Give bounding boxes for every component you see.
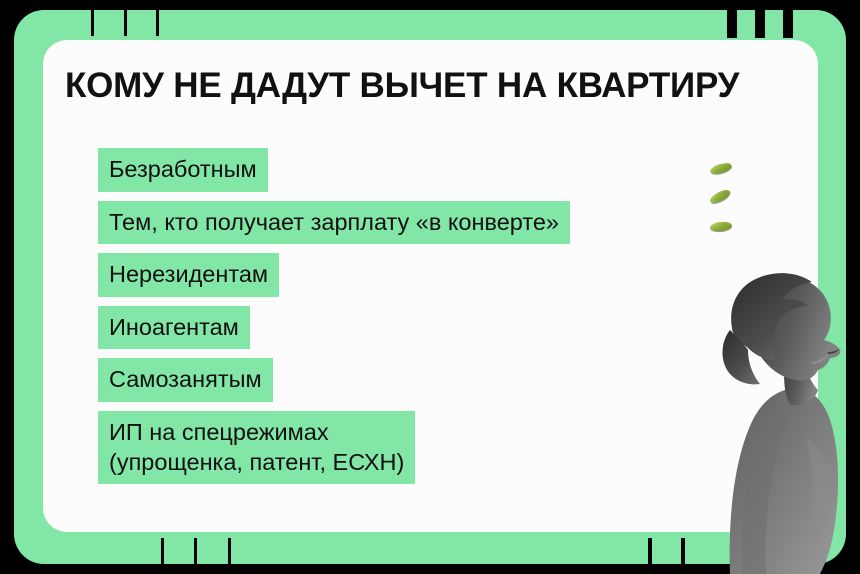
coin-icon <box>710 221 733 232</box>
frame-notch-top-6 <box>783 10 793 38</box>
frame-notch-bottom-2 <box>194 538 197 564</box>
list-item: Иноагентам <box>98 306 738 350</box>
infographic-card: КОМУ НЕ ДАДУТ ВЫЧЕТ НА КВАРТИРУ Безработ… <box>0 0 860 574</box>
coin-icon <box>709 161 733 176</box>
frame-notch-top-3 <box>156 10 159 36</box>
list-item: ИП на спецрежимах (упрощенка, патент, ЕС… <box>98 411 738 484</box>
frame-notch-top-4 <box>727 10 737 38</box>
list-item: Тем, кто получает зарплату «в конверте» <box>98 201 738 245</box>
list-item-label: Безработным <box>98 148 268 192</box>
list-item-label: Тем, кто получает зарплату «в конверте» <box>98 201 570 245</box>
frame-notch-bottom-1 <box>161 538 164 564</box>
white-content-card: КОМУ НЕ ДАДУТ ВЫЧЕТ НА КВАРТИРУ Безработ… <box>43 40 818 532</box>
list-item-label: ИП на спецрежимах (упрощенка, патент, ЕС… <box>98 411 415 484</box>
coins-group <box>706 160 746 250</box>
list-item: Нерезидентам <box>98 253 738 297</box>
frame-notch-bottom-4 <box>648 538 652 564</box>
list-item-label: Нерезидентам <box>98 253 279 297</box>
list-item-label: Самозанятым <box>98 358 273 402</box>
frame-notch-top-2 <box>124 10 127 36</box>
frame-notch-top-1 <box>91 10 94 36</box>
exclusion-list: Безработным Тем, кто получает зарплату «… <box>98 148 738 493</box>
frame-notch-bottom-5 <box>681 538 685 564</box>
list-item: Самозанятым <box>98 358 738 402</box>
coin-icon <box>708 187 732 205</box>
list-item-label: Иноагентам <box>98 306 250 350</box>
page-title: КОМУ НЕ ДАДУТ ВЫЧЕТ НА КВАРТИРУ <box>65 68 805 105</box>
list-item: Безработным <box>98 148 738 192</box>
frame-notch-top-5 <box>755 10 765 38</box>
frame-notch-bottom-3 <box>228 538 231 564</box>
